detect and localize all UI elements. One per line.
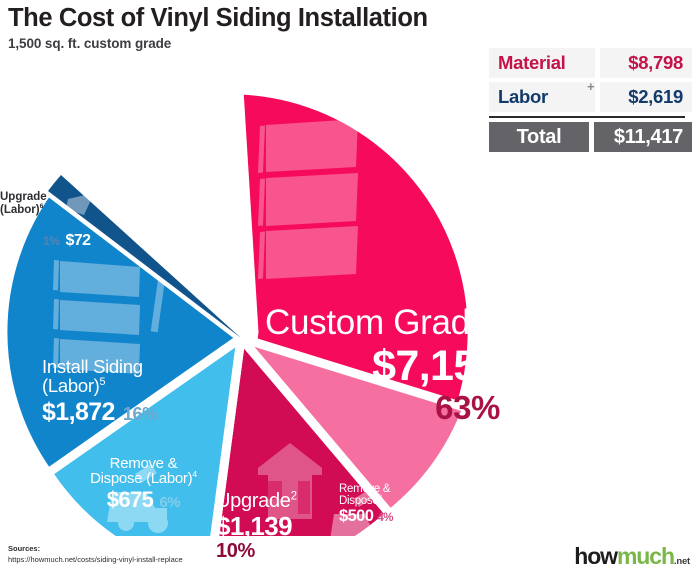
- logo-how: how: [574, 543, 617, 569]
- rd-percent: 4%: [377, 512, 393, 524]
- summary-value-material: $8,798: [600, 48, 692, 78]
- rdl-name2: Dispose (Labor): [90, 470, 192, 487]
- upgrade-labor-name: Upgrade: [0, 191, 85, 204]
- upgrade-labor-footnote: 6: [40, 203, 44, 210]
- slice-label-upgrade-labor: 1% $72: [43, 232, 121, 250]
- plus-symbol: +: [587, 79, 595, 94]
- rdl-amount: $675: [107, 487, 154, 513]
- install-siding-percent: 16%: [123, 404, 158, 425]
- pie-chart: Custom Grade1 $7,159 63% Install Siding …: [0, 36, 496, 536]
- install-siding-footnote: 5: [100, 376, 106, 388]
- custom-grade-percent: 63%: [200, 389, 500, 427]
- rdl-name: Remove &: [56, 456, 231, 471]
- slice-label-remove-dispose: Remove & Dispose3 $500 4%: [339, 484, 434, 526]
- rd-footnote: 3: [378, 494, 381, 501]
- upgrade-labor-name2: (Labor): [0, 204, 40, 216]
- cost-summary-table: Material $8,798 + Labor $2,619 Total $11…: [489, 48, 692, 156]
- summary-value-total: $11,417: [594, 122, 692, 152]
- rdl-footnote: 4: [192, 469, 197, 479]
- upgrade-name: Upgrade: [216, 490, 291, 512]
- logo-much: much: [617, 543, 674, 569]
- slice-label-remove-dispose-labor: Remove & Dispose (Labor)4 $675 6%: [56, 456, 231, 513]
- summary-label-material: Material: [489, 48, 595, 78]
- rd-amount: $500: [339, 507, 373, 526]
- howmuch-logo[interactable]: howmuch.net: [574, 543, 690, 570]
- page-title: The Cost of Vinyl Siding Installation: [8, 4, 488, 33]
- rd-name2: Dispose: [339, 495, 378, 507]
- summary-label-labor: Labor: [489, 82, 595, 112]
- summary-row-material: Material $8,798: [489, 48, 692, 78]
- custom-grade-amount: $7,159: [200, 342, 500, 391]
- summary-row-total: Total $11,417: [489, 122, 692, 152]
- infographic-page: The Cost of Vinyl Siding Installation 1,…: [0, 0, 700, 576]
- upgrade-percent: 10%: [216, 540, 351, 563]
- slice-label-install-siding: Install Siding (Labor)5 $1,872 16%: [42, 358, 232, 427]
- logo-net: .net: [674, 556, 690, 567]
- sources-url[interactable]: https://howmuch.net/costs/siding-vinyl-i…: [8, 554, 183, 565]
- sources-block: Sources: https://howmuch.net/costs/sidin…: [8, 543, 183, 566]
- sources-heading: Sources:: [8, 543, 183, 554]
- upgrade-amount: $1,139: [216, 511, 351, 542]
- install-siding-name2: (Labor): [42, 375, 100, 396]
- siding-panels-icon: [258, 119, 358, 279]
- rdl-percent: 6%: [159, 494, 180, 511]
- callout-upgrade-labor: Upgrade (Labor)6: [0, 191, 85, 217]
- install-siding-amount: $1,872: [42, 398, 115, 427]
- summary-value-labor: $2,619: [600, 82, 692, 112]
- summary-label-total: Total: [489, 122, 589, 152]
- slice-label-custom-grade: Custom Grade1 $7,159 63%: [200, 305, 500, 427]
- custom-grade-footnote: 1: [489, 304, 500, 326]
- summary-divider: [489, 116, 685, 118]
- slice-label-upgrade: Upgrade2 $1,139 10%: [216, 491, 351, 563]
- upgrade-footnote: 2: [291, 489, 297, 502]
- upgrade-labor-amount: $72: [66, 232, 91, 250]
- custom-grade-name: Custom Grade: [265, 303, 489, 342]
- upgrade-labor-percent: 1%: [43, 234, 60, 248]
